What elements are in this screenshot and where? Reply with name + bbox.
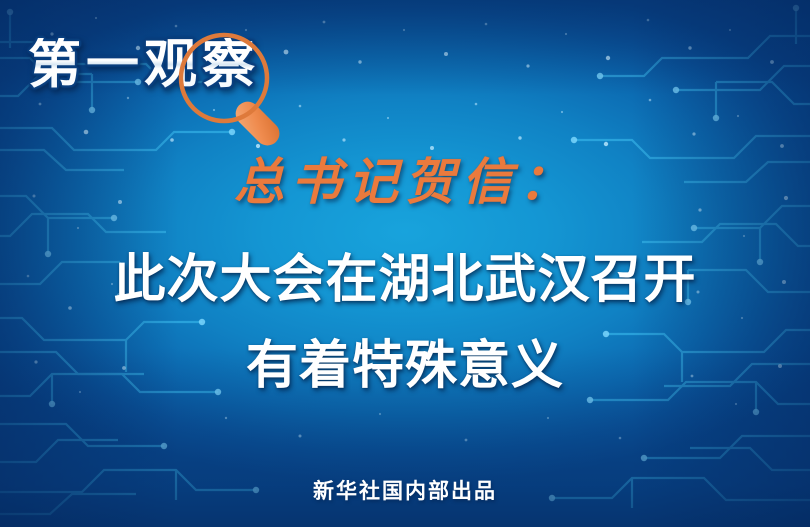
headline-block: 总书记贺信： 此次大会在湖北武汉召开 有着特殊意义: [0, 152, 810, 392]
headline-line-1: 此次大会在湖北武汉召开: [0, 254, 810, 306]
brand-logo-text: 第一观察: [28, 38, 260, 91]
footer-credit: 新华社国内部出品: [0, 475, 810, 505]
poster-canvas: 第一观察 总书记贺信：: [0, 0, 810, 527]
headline-line-2: 有着特殊意义: [0, 340, 810, 392]
brand-logo: 第一观察: [28, 22, 328, 132]
headline-kicker: 总书记贺信：: [0, 152, 810, 212]
